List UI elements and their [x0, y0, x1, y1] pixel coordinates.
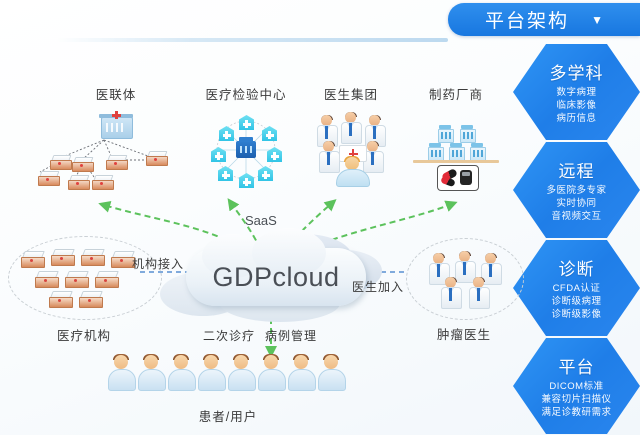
oncologist-icon	[441, 277, 460, 307]
institution-icon	[79, 291, 101, 306]
hospital-icon	[101, 111, 131, 137]
hexagon-line: DICOM标准	[549, 380, 603, 393]
connector-label-second-opinion: 二次诊疗	[203, 327, 255, 344]
chevron-down-icon[interactable]: ▼	[591, 14, 603, 26]
institution-icon	[111, 251, 133, 266]
header-bar[interactable]: 平台架构 ▼	[448, 3, 640, 36]
hexagon-line: 临床影像	[556, 99, 596, 112]
hexagon-diagnosis[interactable]: 诊断 CFDA认证 诊断级病理 诊断级影像	[513, 240, 640, 336]
connector-label-institution-access: 机构接入	[132, 255, 184, 272]
institution-icon	[65, 271, 87, 286]
clinic-icon	[50, 155, 70, 168]
connector-label-saas: SaaS	[245, 213, 277, 228]
patients-label: 患者/用户	[168, 406, 288, 425]
hexagon-line: 兼容切片扫描仪	[541, 393, 611, 406]
clinic-icon	[38, 171, 58, 184]
group-label-oncologists: 肿瘤医生	[396, 324, 532, 343]
factory-icon	[448, 143, 464, 159]
hexagon-line: 诊断级影像	[551, 308, 601, 321]
clinic-icon	[146, 151, 166, 164]
patient-row	[108, 355, 348, 391]
connector-label-case-management: 病例管理	[265, 327, 317, 344]
hexagon-line: 实时协同	[556, 197, 596, 210]
entity-label: 医联体	[46, 84, 186, 103]
hexagon-line: 诊断级病理	[551, 295, 601, 308]
entity-medical-alliance[interactable]: 医联体	[46, 84, 186, 189]
hexagon-feature-column: 多学科 数字病理 临床影像 病历信息 远程 多医院多专家 实时协同 音视频交互 …	[513, 44, 640, 432]
hexagon-line: 音视频交互	[551, 210, 601, 223]
clinic-icon	[72, 157, 92, 170]
patient-icon	[198, 355, 224, 389]
nurse-with-record-icon	[331, 157, 373, 185]
institution-icon	[95, 271, 117, 286]
entity-doctor-group[interactable]: 医生集团	[300, 84, 402, 189]
entity-label: 医疗检验中心	[186, 84, 306, 103]
page-title: 平台架构	[485, 6, 569, 33]
entity-testing-center[interactable]: 医疗检验中心	[186, 84, 306, 189]
lab-network-icon	[186, 111, 306, 189]
entity-label: 医生集团	[300, 84, 402, 103]
doctor-icon	[341, 112, 360, 142]
institution-icon	[49, 291, 71, 306]
hexagon-line: 数字病理	[556, 86, 596, 99]
hexagon-line: 满足诊教研需求	[541, 406, 611, 419]
diagram-canvas: 平台架构 ▼	[0, 0, 640, 435]
hexagon-title: 诊断	[559, 255, 595, 280]
pill-box-icon	[437, 165, 479, 191]
patient-icon	[168, 355, 194, 389]
factory-icon	[469, 143, 485, 159]
patient-icon	[228, 355, 254, 389]
doctor-group-icon	[300, 111, 402, 189]
header-divider	[56, 38, 448, 42]
patient-icon	[258, 355, 284, 389]
hexagon-title: 多学科	[550, 59, 604, 84]
institution-icon	[21, 251, 43, 266]
entity-label: 制药厂商	[402, 84, 510, 103]
central-lab-icon	[236, 141, 256, 158]
pharma-icon	[402, 111, 510, 189]
hospital-tree-icon	[46, 111, 186, 189]
patient-icon	[318, 355, 344, 389]
group-label-institutions: 医疗机构	[8, 325, 160, 344]
institution-icon	[51, 249, 73, 264]
group-oncologists	[406, 238, 524, 320]
factory-icon	[459, 125, 475, 141]
institution-icon	[81, 249, 103, 264]
hexagon-remote[interactable]: 远程 多医院多专家 实时协同 音视频交互	[513, 142, 640, 238]
patient-icon	[138, 355, 164, 389]
group-medical-institutions	[8, 236, 162, 320]
factory-icon	[427, 143, 443, 159]
hexagon-line: 多医院多专家	[546, 184, 606, 197]
institution-icon	[35, 271, 57, 286]
hexagon-line: 病历信息	[556, 112, 596, 125]
gdpcloud-platform[interactable]: GDPcloud	[160, 228, 382, 323]
patient-icon	[108, 355, 134, 389]
oncologist-icon	[469, 277, 488, 307]
patient-icon	[288, 355, 314, 389]
hexagon-title: 远程	[559, 157, 595, 182]
entity-pharma-manufacturer[interactable]: 制药厂商	[402, 84, 510, 189]
clinic-icon	[68, 175, 88, 188]
factory-icon	[437, 125, 453, 141]
hexagon-line: CFDA认证	[553, 282, 601, 295]
clinic-icon	[106, 155, 126, 168]
clinic-icon	[92, 175, 112, 188]
cloud-label: GDPcloud	[186, 248, 366, 306]
hexagon-multidiscipline[interactable]: 多学科 数字病理 临床影像 病历信息	[513, 44, 640, 140]
hexagon-title: 平台	[559, 353, 595, 378]
hexagon-platform[interactable]: 平台 DICOM标准 兼容切片扫描仪 满足诊教研需求	[513, 338, 640, 434]
